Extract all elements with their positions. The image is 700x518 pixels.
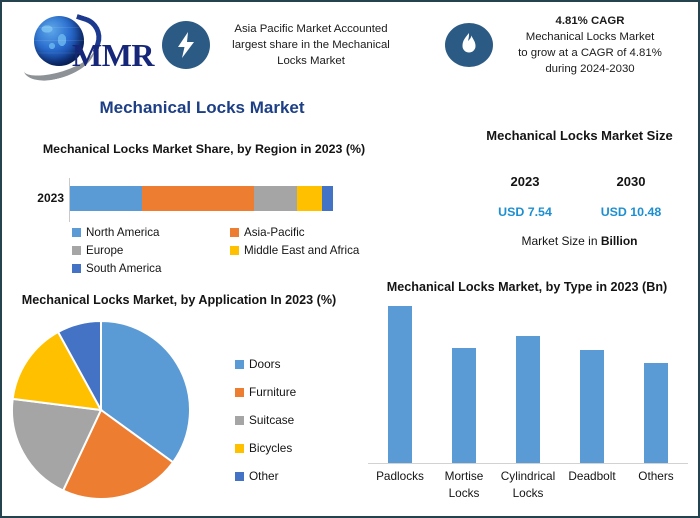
type-bar (644, 363, 668, 464)
region-legend-item[interactable]: North America (72, 223, 230, 241)
market-size-footnote-unit: Billion (601, 234, 638, 248)
header-text-block-2: 4.81% CAGR Mechanical Locks Market to gr… (490, 13, 690, 77)
type-category-label: Others (624, 468, 688, 485)
market-size-footnote-prefix: Market Size in (521, 234, 600, 248)
application-legend-item[interactable]: Doors (235, 350, 296, 378)
panel-divider (410, 98, 411, 258)
legend-swatch-icon (72, 246, 81, 255)
region-legend-label: Europe (86, 244, 123, 257)
legend-swatch-icon (235, 444, 244, 453)
market-size-value-2023: USD 7.54 (470, 205, 580, 219)
application-legend-label: Other (249, 469, 279, 483)
header-line: during 2024-2030 (490, 61, 690, 77)
type-chart-title: Mechanical Locks Market, by Type in 2023… (372, 278, 682, 297)
market-size-year-2023: 2023 (470, 174, 580, 189)
region-bar-segment (254, 186, 297, 211)
infographic-canvas: MMR Asia Pacific Market Accounted larges… (0, 0, 700, 518)
region-chart-title: Mechanical Locks Market Share, by Region… (16, 140, 392, 158)
type-bar (580, 350, 604, 464)
region-legend-label: North America (86, 226, 159, 239)
type-category-label: Mortise Locks (432, 468, 496, 502)
region-legend-label: Asia-Pacific (244, 226, 305, 239)
region-legend-item[interactable]: Asia-Pacific (230, 223, 388, 241)
header-line: to grow at a CAGR of 4.81% (490, 45, 690, 61)
type-category-label: Deadbolt (560, 468, 624, 485)
application-legend-label: Doors (249, 357, 280, 371)
legend-swatch-icon (72, 228, 81, 237)
header-line: Locks Market (208, 53, 414, 69)
region-chart-legend: North AmericaAsia-PacificEuropeMiddle Ea… (72, 223, 392, 277)
region-bar-segment (142, 186, 254, 211)
legend-swatch-icon (230, 246, 239, 255)
header-bar: MMR Asia Pacific Market Accounted larges… (2, 2, 698, 88)
market-size-footnote: Market Size in Billion (472, 234, 687, 248)
region-legend-item[interactable]: Europe (72, 241, 230, 259)
mmr-logo: MMR (16, 10, 156, 78)
region-legend-item[interactable]: Middle East and Africa (230, 241, 388, 259)
application-chart-legend: DoorsFurnitureSuitcaseBicyclesOther (235, 350, 296, 490)
legend-swatch-icon (235, 472, 244, 481)
application-legend-label: Bicycles (249, 441, 292, 455)
application-legend-label: Furniture (249, 385, 296, 399)
type-bar (452, 348, 476, 464)
type-bar (388, 306, 412, 464)
legend-swatch-icon (235, 416, 244, 425)
region-chart-category-label: 2023 (20, 191, 64, 205)
header-line-cagr-value: 4.81% CAGR (490, 13, 690, 29)
market-size-year-2030: 2030 (576, 174, 686, 189)
logo-text: MMR (72, 37, 154, 74)
type-chart-baseline (368, 463, 688, 464)
legend-swatch-icon (230, 228, 239, 237)
legend-swatch-icon (235, 388, 244, 397)
application-pie-chart (10, 319, 196, 505)
flame-icon (445, 23, 493, 67)
application-legend-label: Suitcase (249, 413, 294, 427)
legend-swatch-icon (72, 264, 81, 273)
region-bar-segment (297, 186, 322, 211)
type-bar (516, 336, 540, 464)
application-legend-item[interactable]: Other (235, 462, 296, 490)
header-line: Asia Pacific Market Accounted (208, 21, 414, 37)
region-legend-label: Middle East and Africa (244, 244, 359, 257)
region-bar-segment (322, 186, 333, 211)
header-line: Mechanical Locks Market (490, 29, 690, 45)
application-legend-item[interactable]: Furniture (235, 378, 296, 406)
region-stacked-bar (70, 186, 333, 211)
lightning-bolt-icon (162, 21, 210, 69)
type-bar-chart (368, 302, 688, 464)
region-bar-segment (70, 186, 142, 211)
application-chart-title: Mechanical Locks Market, by Application … (14, 291, 344, 310)
region-legend-label: South America (86, 262, 161, 275)
header-text-block-1: Asia Pacific Market Accounted largest sh… (208, 21, 414, 69)
type-category-label: Cylindrical Locks (496, 468, 560, 502)
type-category-label: Padlocks (368, 468, 432, 485)
region-legend-item[interactable]: South America (72, 259, 230, 277)
application-legend-item[interactable]: Suitcase (235, 406, 296, 434)
page-title: Mechanical Locks Market (2, 98, 402, 118)
market-size-value-2030: USD 10.48 (576, 205, 686, 219)
market-size-title: Mechanical Locks Market Size (472, 126, 687, 145)
application-legend-item[interactable]: Bicycles (235, 434, 296, 462)
header-line: largest share in the Mechanical (208, 37, 414, 53)
legend-swatch-icon (235, 360, 244, 369)
